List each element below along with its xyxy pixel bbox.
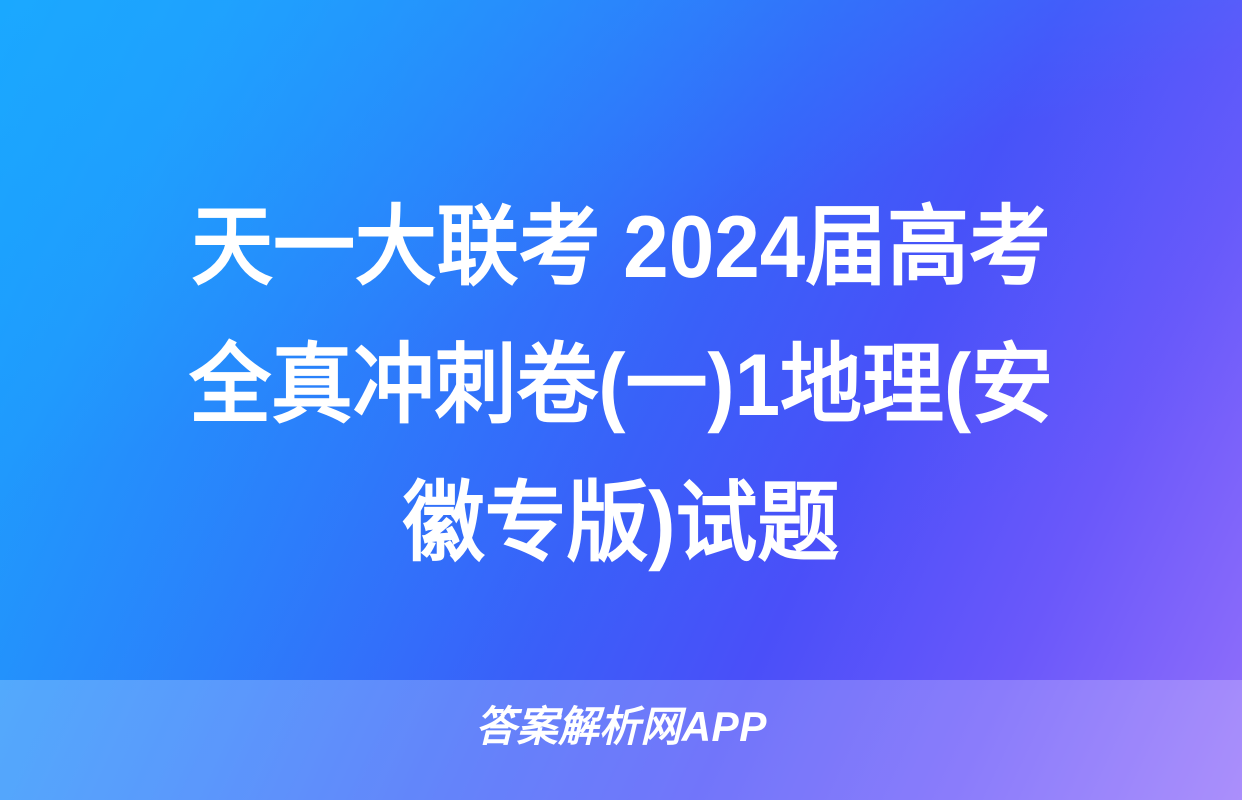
watermark-band: 答案解析网APP — [0, 680, 1242, 800]
title-line-1: 天一大联考 2024届高考 — [99, 178, 1142, 316]
title-line-2: 全真冲刺卷(一)1地理(安 — [99, 316, 1142, 454]
poster-canvas: 天一大联考 2024届高考 全真冲刺卷(一)1地理(安 徽专版)试题 答案解析网… — [0, 0, 1242, 800]
watermark-label: 答案解析网APP — [475, 704, 766, 750]
title-line-3: 徽专版)试题 — [99, 454, 1142, 592]
page-title: 天一大联考 2024届高考 全真冲刺卷(一)1地理(安 徽专版)试题 — [0, 178, 1242, 592]
